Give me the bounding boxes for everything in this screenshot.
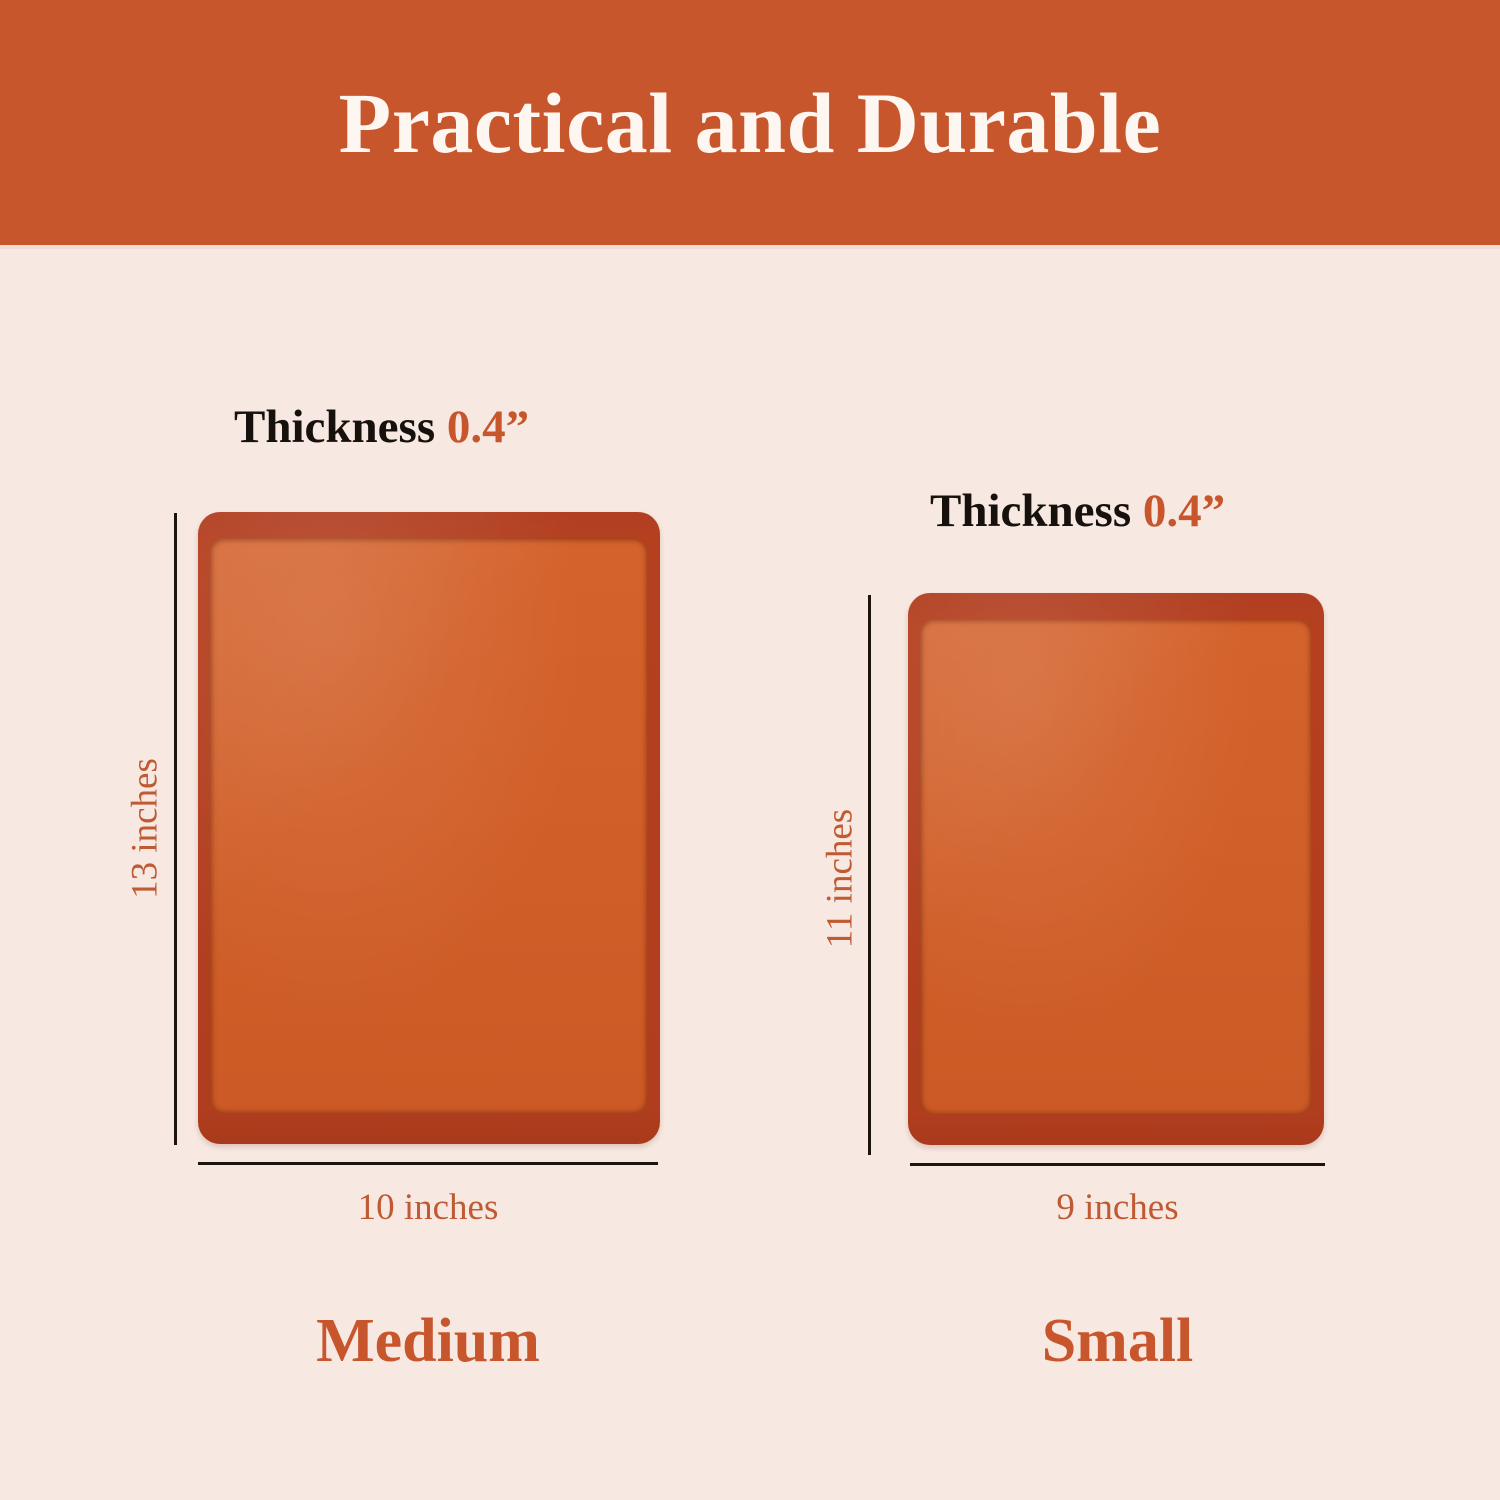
width-label-small: 9 inches (910, 1189, 1325, 1226)
header-banner: Practical and Durable (0, 0, 1500, 245)
thickness-value-text: 0.4” (447, 401, 529, 453)
thickness-value-text: 0.4” (1143, 485, 1225, 537)
thickness-label-text: Thickness (234, 401, 435, 453)
page-title: Practical and Durable (339, 80, 1162, 166)
height-rule-small (868, 595, 871, 1155)
thickness-label-text: Thickness (930, 485, 1131, 537)
width-rule-medium (198, 1162, 658, 1165)
height-label-small: 11 inches (822, 729, 859, 1029)
tray-medium-surface (210, 538, 648, 1114)
height-label-medium: 13 inches (127, 679, 164, 979)
tray-medium (198, 512, 660, 1144)
height-rule-medium (174, 513, 177, 1145)
width-label-medium: 10 inches (198, 1189, 658, 1226)
tray-small-surface (920, 619, 1312, 1115)
size-name-small: Small (890, 1310, 1345, 1372)
size-name-medium: Medium (178, 1310, 678, 1372)
width-rule-small (910, 1163, 1325, 1166)
thickness-callout-small: Thickness 0.4” (930, 488, 1225, 535)
thickness-callout-medium: Thickness 0.4” (234, 404, 529, 451)
product-infographic: Practical and Durable Thickness 0.4” 13 … (0, 0, 1500, 1500)
header-divider (0, 245, 1500, 249)
tray-small (908, 593, 1324, 1145)
